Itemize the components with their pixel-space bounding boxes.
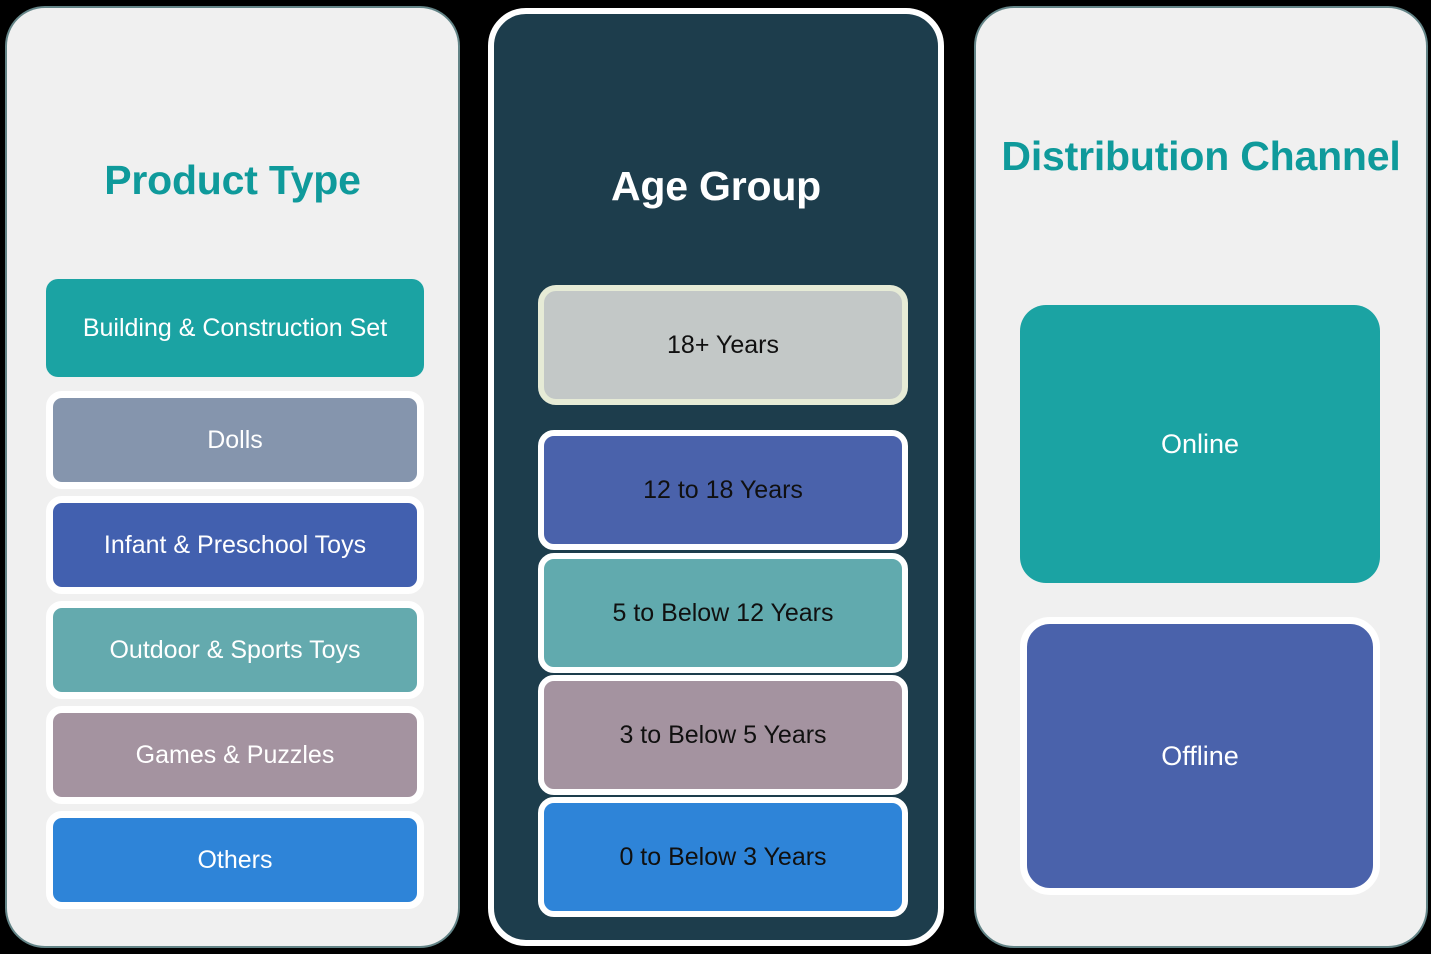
product-type-item-others[interactable]: Others: [46, 811, 424, 909]
product-type-item-games-and-puzzles[interactable]: Games & Puzzles: [46, 706, 424, 804]
product-type-item-building-and-construction-set[interactable]: Building & Construction Set: [46, 279, 424, 377]
panel-age-group-title: Age Group: [494, 164, 938, 208]
age-group-item-5-to-below-12-years[interactable]: 5 to Below 12 Years: [538, 553, 908, 673]
panel-distribution-channel-title: Distribution Channel: [976, 134, 1426, 178]
distribution-channel-item-offline[interactable]: Offline: [1020, 617, 1380, 895]
product-type-item-infant-and-preschool-toys[interactable]: Infant & Preschool Toys: [46, 496, 424, 594]
age-group-item-12-to-18-years[interactable]: 12 to 18 Years: [538, 430, 908, 550]
product-type-item-dolls[interactable]: Dolls: [46, 391, 424, 489]
age-group-item-0-to-below-3-years[interactable]: 0 to Below 3 Years: [538, 797, 908, 917]
panel-product-type: Product Type Building & Construction Set…: [7, 8, 458, 946]
panel-product-type-title: Product Type: [7, 158, 458, 202]
segmentation-diagram: Product Type Building & Construction Set…: [0, 0, 1431, 954]
panel-distribution-channel: Distribution Channel Online Offline: [976, 8, 1426, 946]
age-group-item-3-to-below-5-years[interactable]: 3 to Below 5 Years: [538, 675, 908, 795]
distribution-channel-item-online[interactable]: Online: [1020, 305, 1380, 583]
product-type-item-outdoor-and-sports-toys[interactable]: Outdoor & Sports Toys: [46, 601, 424, 699]
panel-age-group: Age Group 18+ Years 12 to 18 Years 5 to …: [488, 8, 944, 946]
age-group-item-18-plus-years[interactable]: 18+ Years: [538, 285, 908, 405]
